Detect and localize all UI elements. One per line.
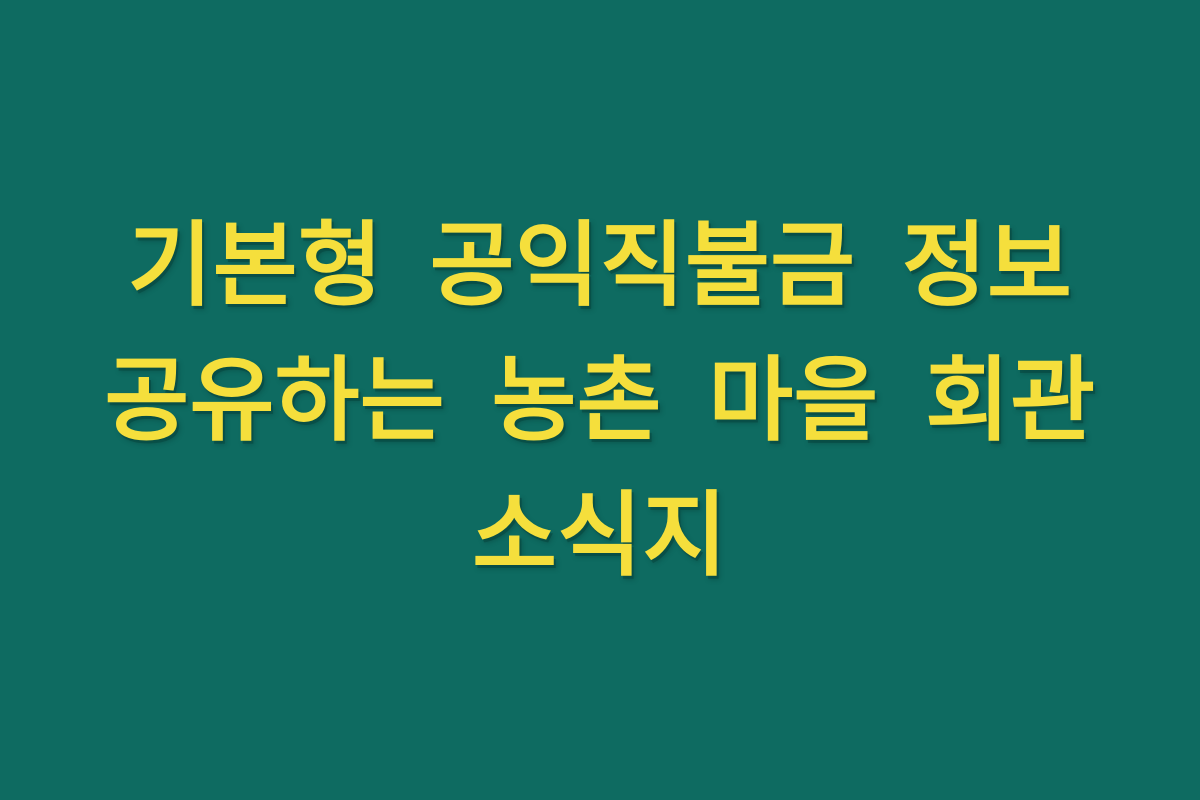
banner-title: 기본형 공익직불금 정보 공유하는 농촌 마을 회관 소식지 <box>75 198 1125 603</box>
banner-text-block: 기본형 공익직불금 정보 공유하는 농촌 마을 회관 소식지 <box>75 198 1125 603</box>
banner-card: 기본형 공익직불금 정보 공유하는 농촌 마을 회관 소식지 <box>0 0 1200 800</box>
